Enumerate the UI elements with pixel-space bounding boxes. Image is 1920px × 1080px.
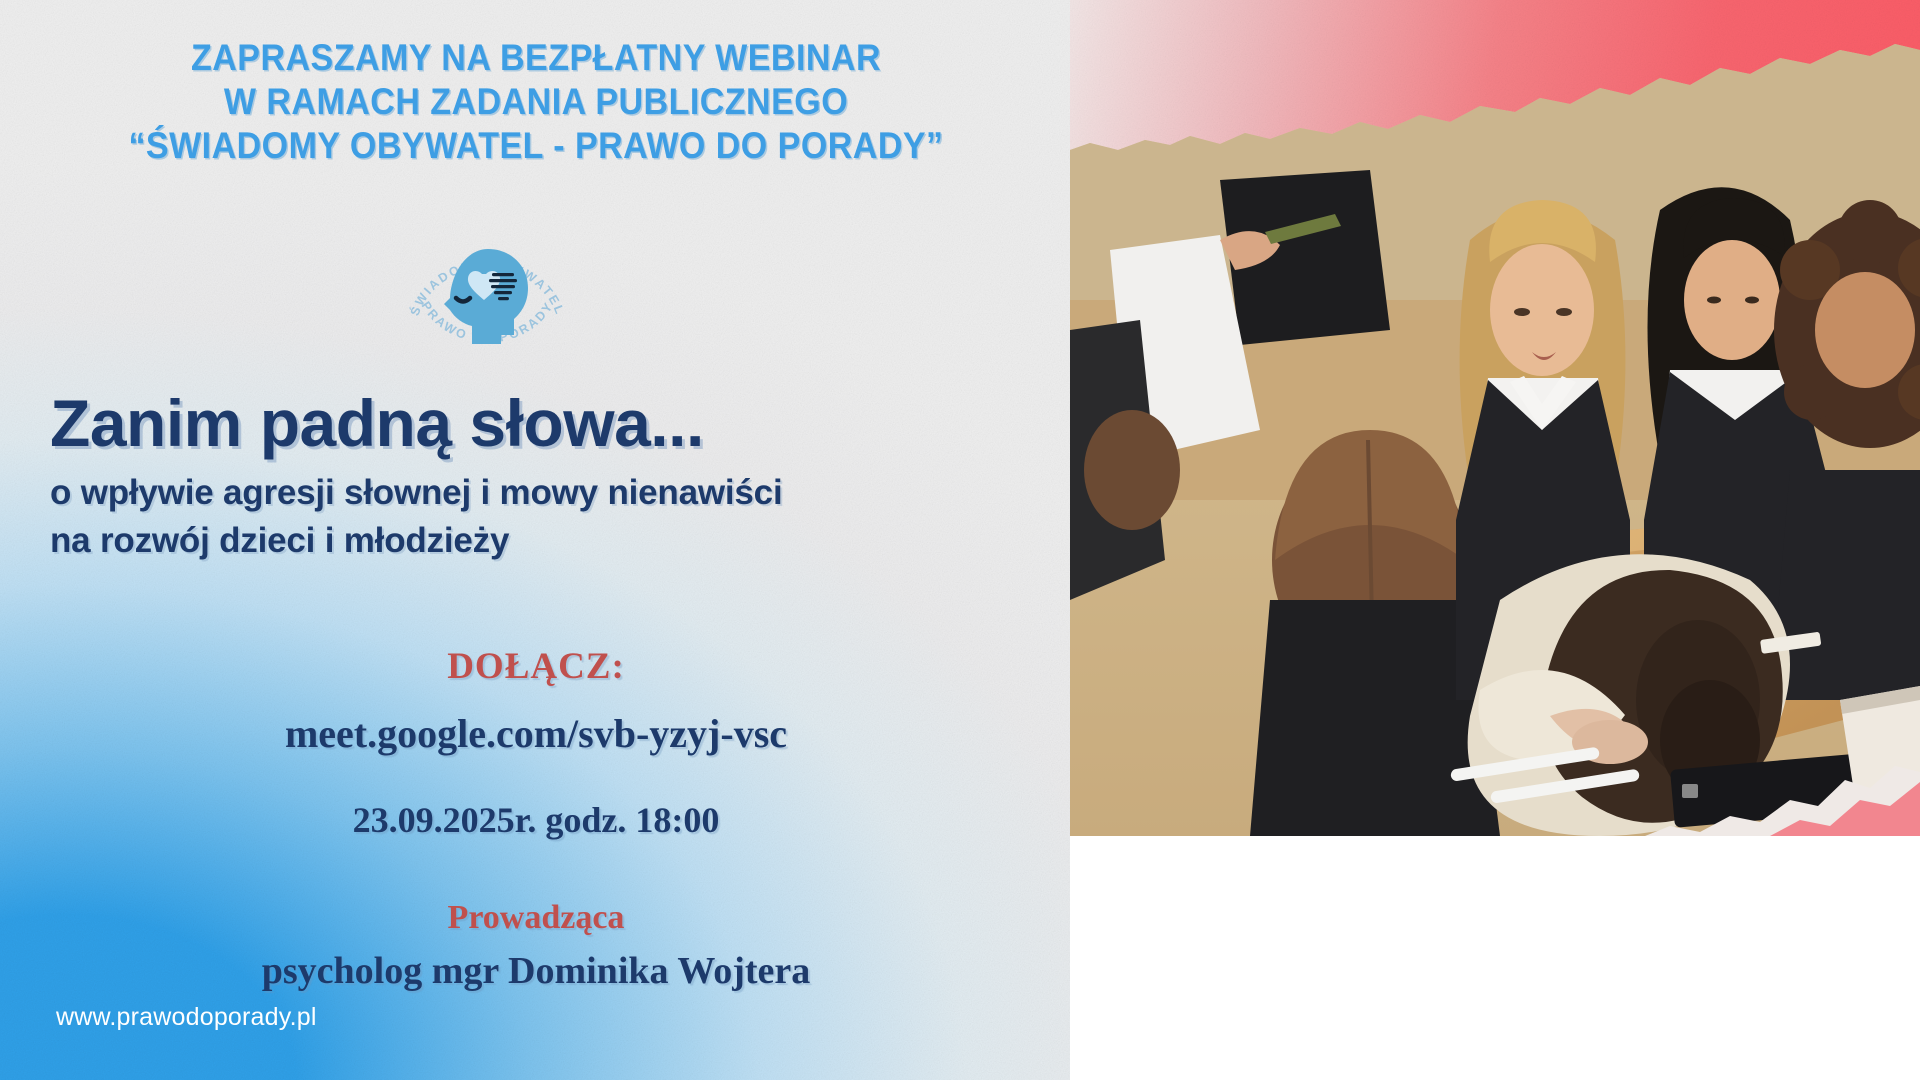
webinar-poster: ZAPRASZAMY NA BEZPŁATNY WEBINAR W RAMACH… xyxy=(0,0,1920,1080)
headline-block: Zanim padną słowa... o wpływie agresji s… xyxy=(50,388,1050,564)
event-datetime: 23.09.2025r. godz. 18:00 xyxy=(0,799,1072,841)
subtitle-line-1: o wpływie agresji słownej i mowy nienawi… xyxy=(50,470,1050,516)
header-block: ZAPRASZAMY NA BEZPŁATNY WEBINAR W RAMACH… xyxy=(0,36,1072,168)
join-label: DOŁĄCZ: xyxy=(0,645,1072,688)
torn-paper-corner xyxy=(1070,0,1920,836)
website-url[interactable]: www.prawodoporady.pl xyxy=(56,1003,317,1032)
classroom-bullying-photo xyxy=(1070,0,1920,836)
swiadomy-obywatel-logo: ŚWIADOMY OBYWATEL PRAWO DO PORADY xyxy=(400,222,575,362)
page-title: Zanim padną słowa... xyxy=(50,388,1050,458)
subtitle-line-2: na rozwój dzieci i młodzieży xyxy=(50,518,1050,564)
host-label: Prowadząca xyxy=(0,899,1072,937)
header-line-2: W RAMACH ZADANIA PUBLICZNEGO xyxy=(43,80,1029,124)
join-block: DOŁĄCZ: meet.google.com/svb-yzyj-vsc 23.… xyxy=(0,645,1072,993)
meeting-link[interactable]: meet.google.com/svb-yzyj-vsc xyxy=(0,710,1072,757)
left-info-panel: ZAPRASZAMY NA BEZPŁATNY WEBINAR W RAMACH… xyxy=(0,0,1072,1080)
right-photo-panel: ◢╱ KOMITET DO SPRAW POŻYTKU PUBLICZNEGO … xyxy=(1070,0,1920,1080)
header-line-3: “ŚWIADOMY OBYWATEL - PRAWO DO PORADY” xyxy=(43,124,1029,168)
host-name: psycholog mgr Dominika Wojtera xyxy=(0,949,1072,993)
header-line-1: ZAPRASZAMY NA BEZPŁATNY WEBINAR xyxy=(43,36,1029,80)
